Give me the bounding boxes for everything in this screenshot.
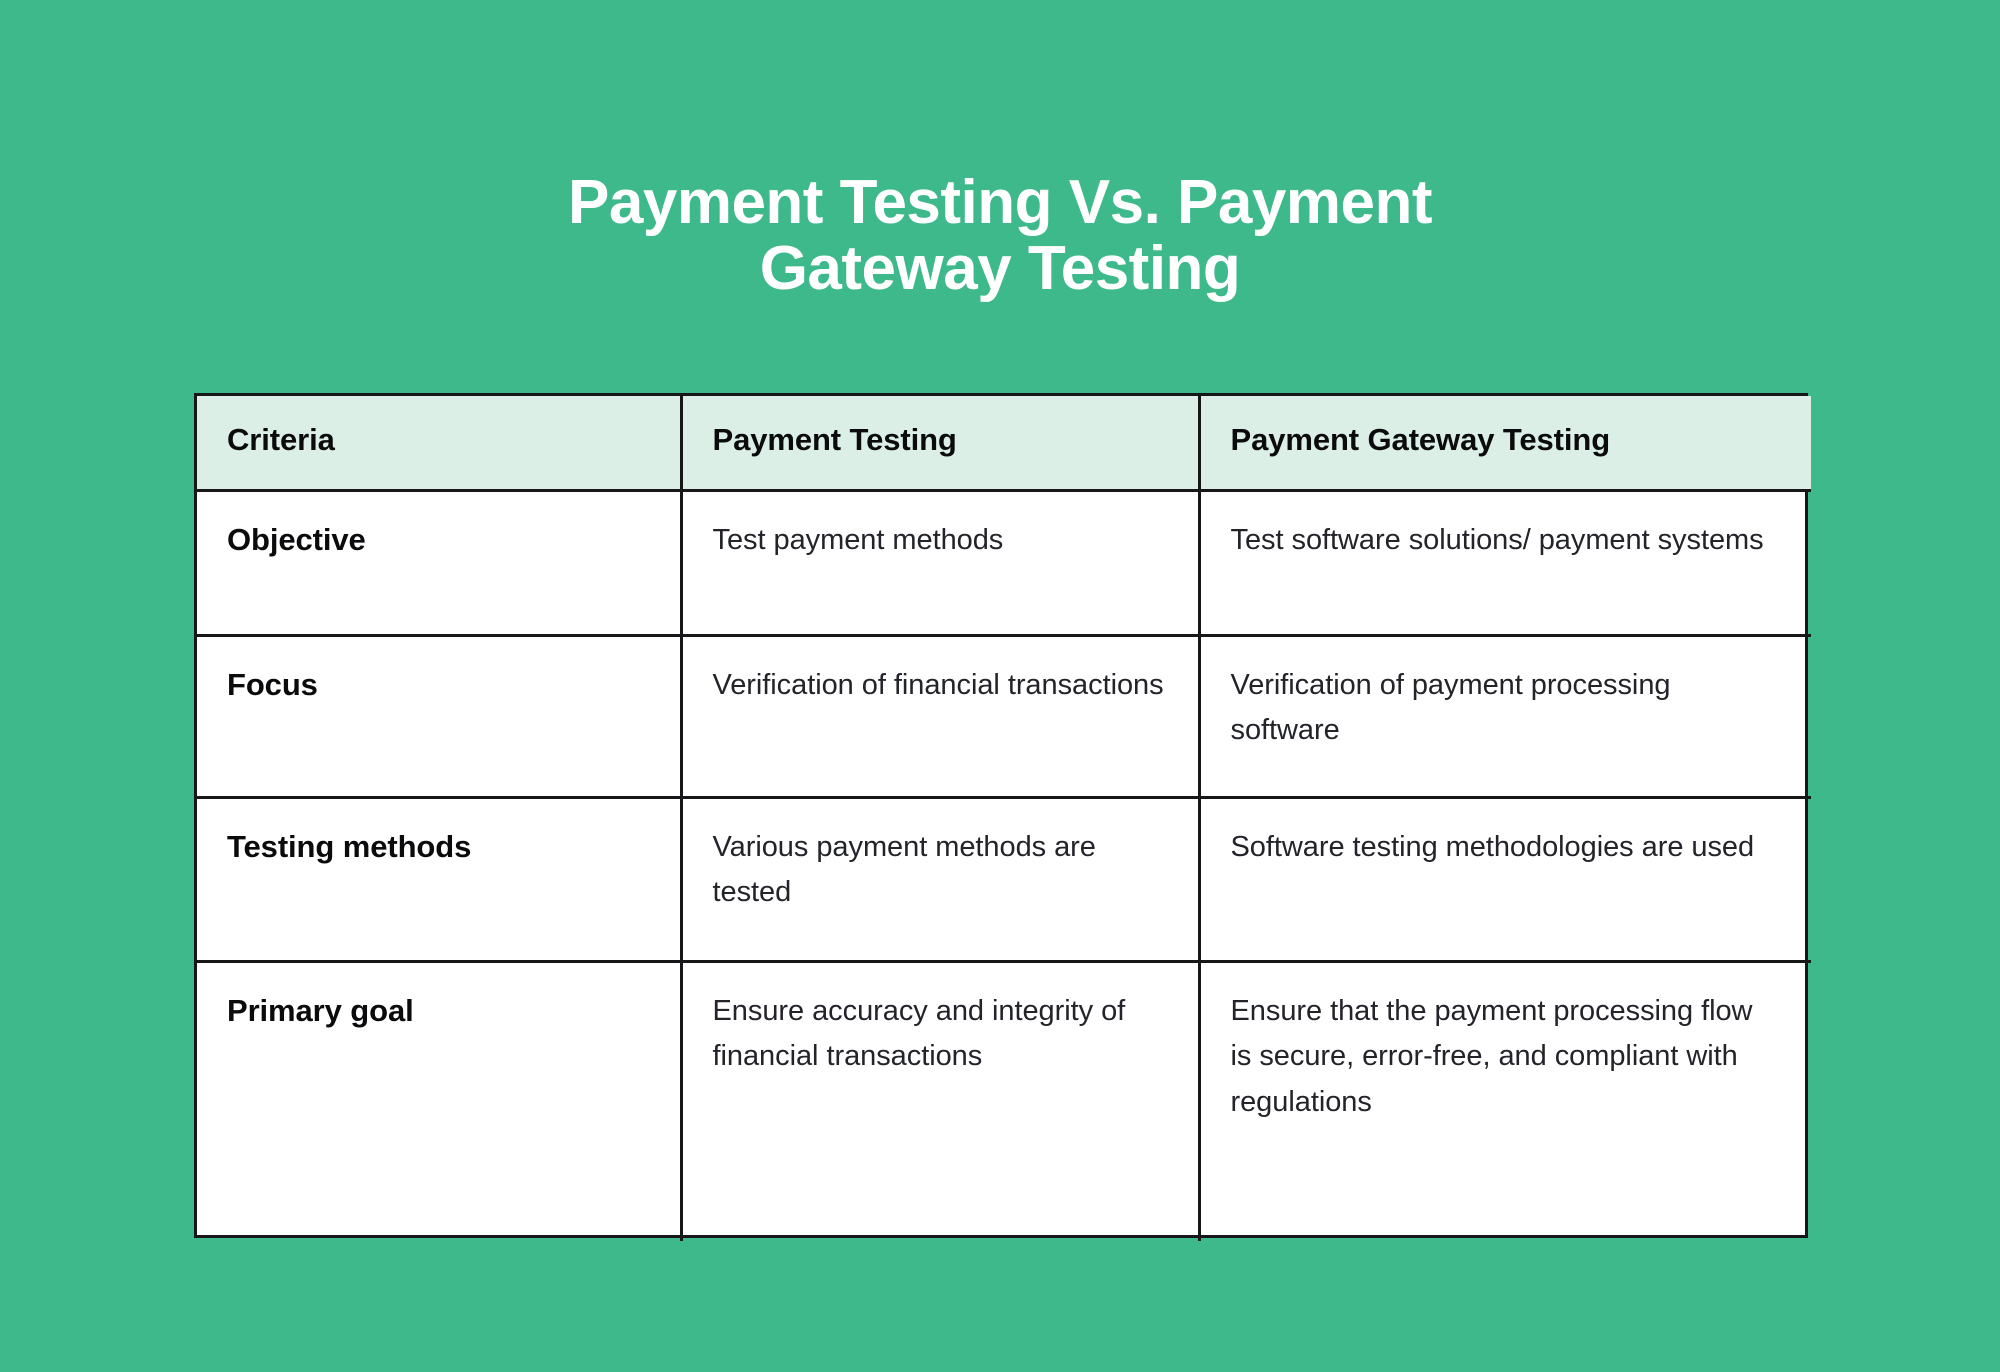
cell-primary-goal-payment-gateway-testing: Ensure that the payment processing flow …: [1199, 961, 1811, 1241]
row-criteria-focus: Focus: [197, 635, 681, 797]
table-row: Objective Test payment methods Test soft…: [197, 490, 1811, 635]
page-title-container: Payment Testing Vs. Payment Gateway Test…: [0, 128, 2000, 345]
cell-testing-methods-payment-gateway-testing: Software testing methodologies are used: [1199, 797, 1811, 961]
cell-objective-payment-gateway-testing: Test software solutions/ payment systems: [1199, 490, 1811, 635]
column-header-payment-testing: Payment Testing: [681, 396, 1199, 490]
page-title-line-1: Payment Testing Vs. Payment: [568, 168, 1432, 237]
table-header-row: Criteria Payment Testing Payment Gateway…: [197, 396, 1811, 490]
cell-objective-payment-testing: Test payment methods: [681, 490, 1199, 635]
row-criteria-primary-goal: Primary goal: [197, 961, 681, 1241]
comparison-infographic: Payment Testing Vs. Payment Gateway Test…: [0, 0, 2000, 1372]
comparison-table: Criteria Payment Testing Payment Gateway…: [197, 396, 1811, 1241]
cell-focus-payment-gateway-testing: Verification of payment processing softw…: [1199, 635, 1811, 797]
table-row: Primary goal Ensure accuracy and integri…: [197, 961, 1811, 1241]
cell-testing-methods-payment-testing: Various payment methods are tested: [681, 797, 1199, 961]
table-header: Criteria Payment Testing Payment Gateway…: [197, 396, 1811, 490]
column-header-criteria: Criteria: [197, 396, 681, 490]
comparison-table-container: Criteria Payment Testing Payment Gateway…: [194, 393, 1808, 1238]
row-criteria-objective: Objective: [197, 490, 681, 635]
page-title-line-2: Gateway Testing: [760, 234, 1241, 303]
row-criteria-testing-methods: Testing methods: [197, 797, 681, 961]
table-row: Testing methods Various payment methods …: [197, 797, 1811, 961]
cell-focus-payment-testing: Verification of financial transactions: [681, 635, 1199, 797]
page-title: Payment Testing Vs. Payment Gateway Test…: [440, 170, 1560, 304]
table-body: Objective Test payment methods Test soft…: [197, 490, 1811, 1241]
column-header-payment-gateway-testing: Payment Gateway Testing: [1199, 396, 1811, 490]
cell-primary-goal-payment-testing: Ensure accuracy and integrity of financi…: [681, 961, 1199, 1241]
table-row: Focus Verification of financial transact…: [197, 635, 1811, 797]
